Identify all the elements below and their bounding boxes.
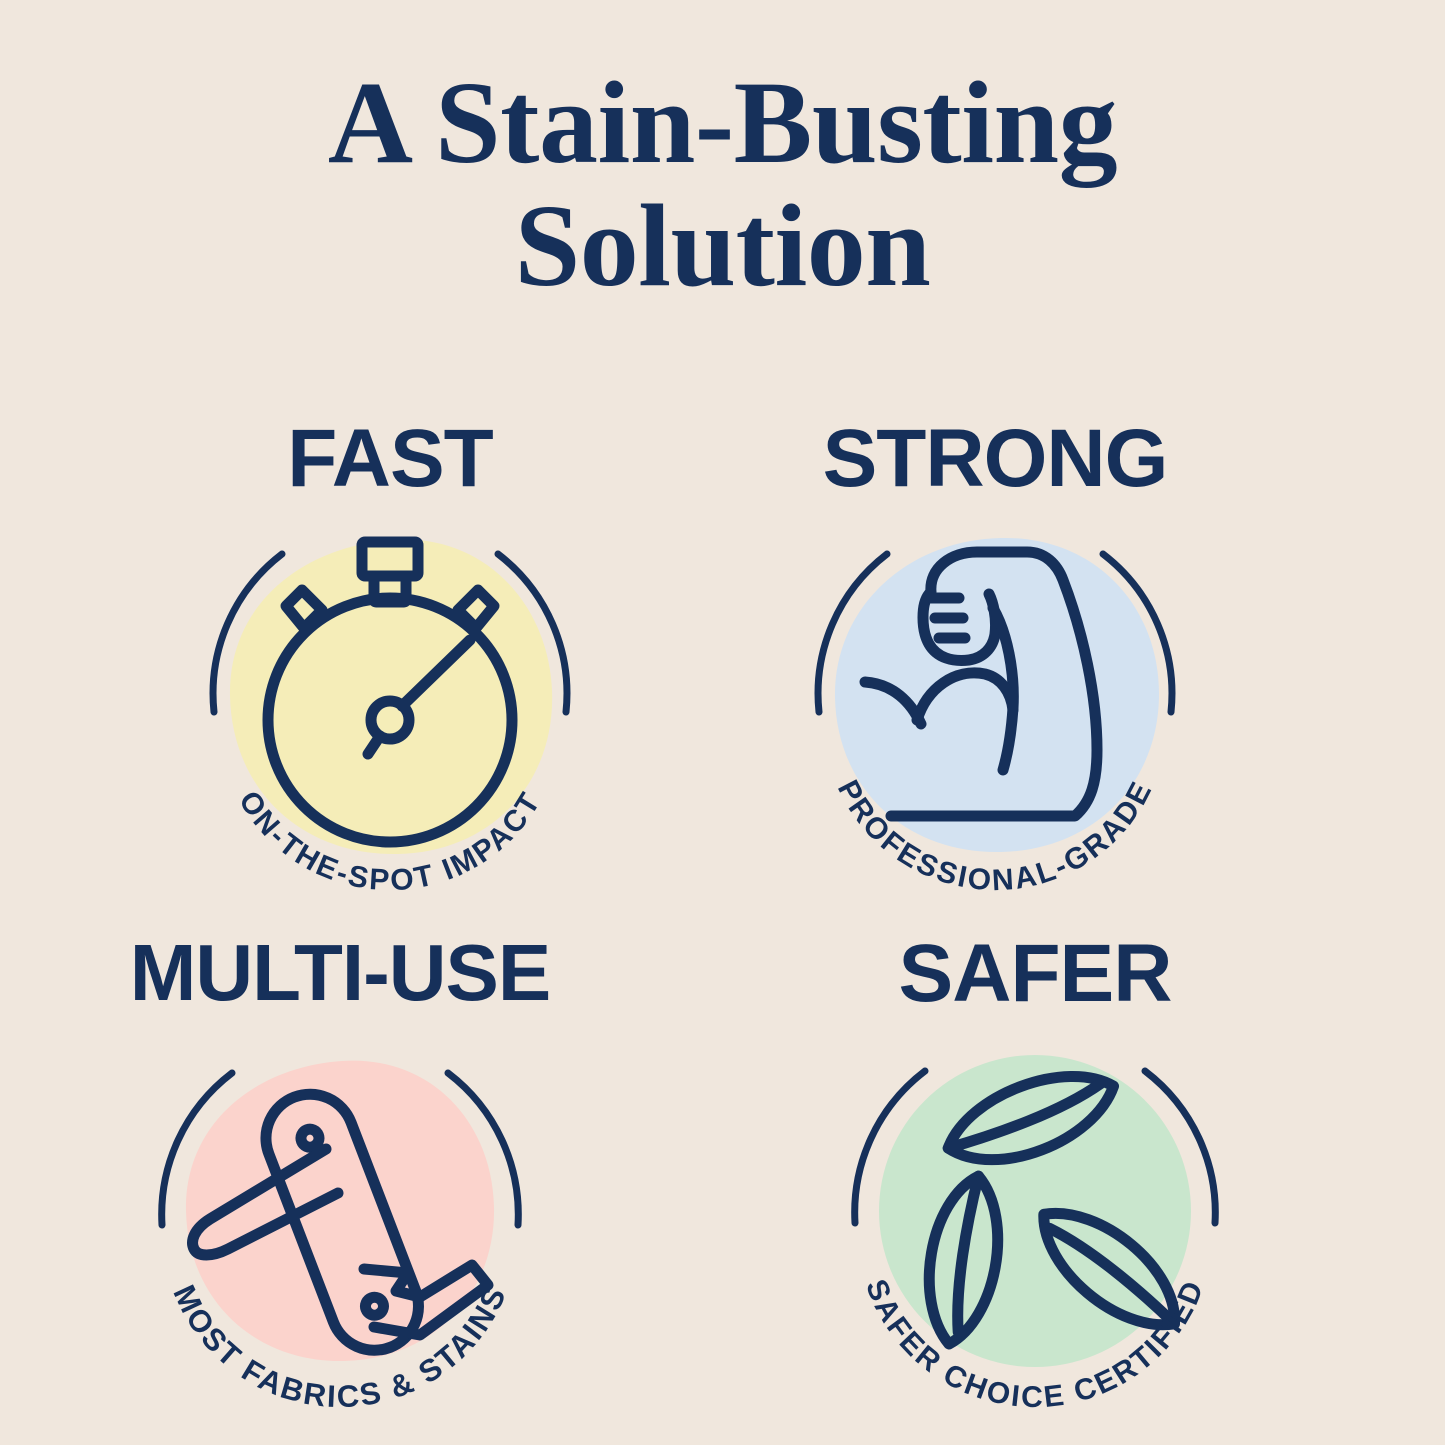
promo-graphic-page: A Stain-Busting Solution FAST	[0, 0, 1445, 1445]
blob-shape-blue	[835, 538, 1159, 852]
benefit-badge-safer: SAFER	[755, 919, 1315, 1419]
badge-emblem-fast: ON-THE-SPOT IMPACT	[140, 482, 640, 902]
badge-emblem-safer: SAFER CHOICE CERTIFIED	[785, 997, 1285, 1417]
benefit-badge-multi-use: MULTI-USE	[60, 919, 620, 1419]
badge-emblem-multi-use: MOST FABRICS & STAINS	[90, 997, 590, 1417]
benefit-badge-strong: STRONG	[715, 404, 1275, 904]
benefit-badge-fast: FAST	[110, 404, 670, 904]
page-title-line-1: A Stain-Busting	[0, 62, 1445, 185]
page-title-line-2: Solution	[0, 185, 1445, 308]
page-title: A Stain-Busting Solution	[0, 62, 1445, 307]
benefit-badge-grid: FAST	[0, 404, 1445, 1414]
badge-emblem-strong: PROFESSIONAL-GRADE	[745, 482, 1245, 902]
